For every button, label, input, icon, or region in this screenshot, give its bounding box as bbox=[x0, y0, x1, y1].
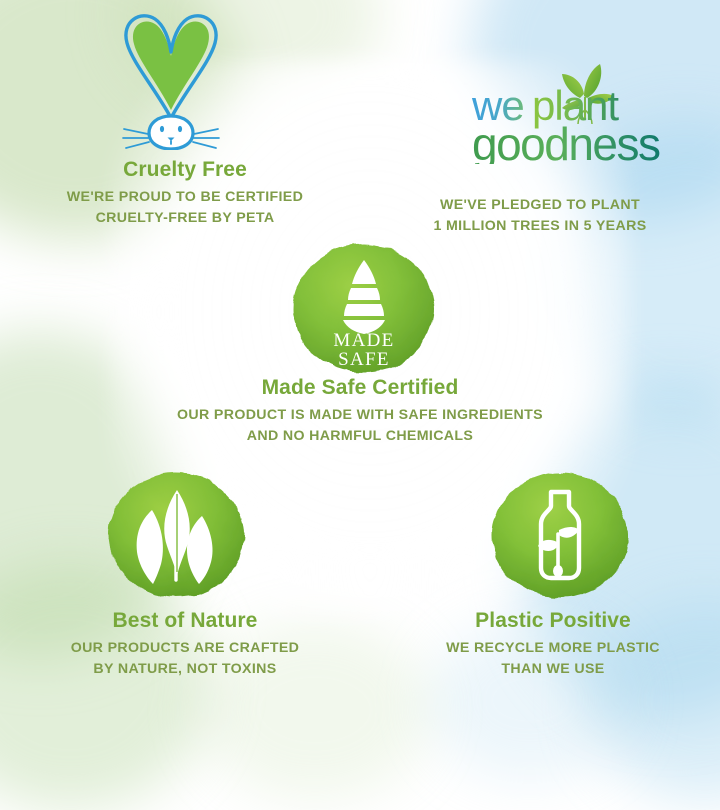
made-safe-text-block: Made Safe Certified OUR PRODUCT IS MADE … bbox=[110, 375, 610, 446]
made-safe-body: OUR PRODUCT IS MADE WITH SAFE INGREDIENT… bbox=[110, 405, 610, 446]
svg-text:goodness: goodness bbox=[472, 118, 660, 164]
made-safe-word-safe: SAFE bbox=[338, 349, 390, 370]
we-plant-goodness-body-line-2: 1 MILLION TREES IN 5 YEARS bbox=[375, 216, 705, 237]
made-safe-heading: Made Safe Certified bbox=[110, 375, 610, 400]
bottle-sprout-badge-icon bbox=[487, 468, 633, 602]
plastic-positive-body-line-1: WE RECYCLE MORE PLASTIC bbox=[388, 638, 718, 659]
cruelty-free-heading: Cruelty Free bbox=[20, 157, 350, 182]
cruelty-free-text-block: Cruelty Free WE'RE PROUD TO BE CERTIFIED… bbox=[20, 157, 350, 228]
cruelty-free-body-line-1: WE'RE PROUD TO BE CERTIFIED bbox=[20, 187, 350, 208]
we-plant-goodness-logo: we plant goodness bbox=[470, 62, 680, 164]
we-plant-goodness-text-block: WE'VE PLEDGED TO PLANT 1 MILLION TREES I… bbox=[375, 195, 705, 236]
three-leaves-badge-icon bbox=[103, 468, 249, 602]
cruelty-free-body: WE'RE PROUD TO BE CERTIFIED CRUELTY-FREE… bbox=[20, 187, 350, 228]
plastic-positive-body: WE RECYCLE MORE PLASTIC THAN WE USE bbox=[388, 638, 718, 679]
we-plant-goodness-body: WE'VE PLEDGED TO PLANT 1 MILLION TREES I… bbox=[375, 195, 705, 236]
best-of-nature-body: OUR PRODUCTS ARE CRAFTED BY NATURE, NOT … bbox=[20, 638, 350, 679]
made-safe-body-line-2: AND NO HARMFUL CHEMICALS bbox=[110, 426, 610, 447]
plastic-positive-body-line-2: THAN WE USE bbox=[388, 659, 718, 680]
certifications-stage: Cruelty Free WE'RE PROUD TO BE CERTIFIED… bbox=[0, 0, 720, 720]
peta-bunny-icon bbox=[108, 14, 234, 150]
made-safe-body-line-1: OUR PRODUCT IS MADE WITH SAFE INGREDIENT… bbox=[110, 405, 610, 426]
plastic-positive-text-block: Plastic Positive WE RECYCLE MORE PLASTIC… bbox=[388, 608, 718, 679]
made-safe-badge-icon: MADE SAFE bbox=[288, 238, 440, 378]
best-of-nature-heading: Best of Nature bbox=[20, 608, 350, 633]
best-of-nature-text-block: Best of Nature OUR PRODUCTS ARE CRAFTED … bbox=[20, 608, 350, 679]
cruelty-free-body-line-2: CRUELTY-FREE BY PETA bbox=[20, 208, 350, 229]
we-plant-goodness-body-line-1: WE'VE PLEDGED TO PLANT bbox=[375, 195, 705, 216]
made-safe-word-made: MADE bbox=[333, 330, 394, 351]
best-of-nature-body-line-1: OUR PRODUCTS ARE CRAFTED bbox=[20, 638, 350, 659]
best-of-nature-body-line-2: BY NATURE, NOT TOXINS bbox=[20, 659, 350, 680]
plastic-positive-heading: Plastic Positive bbox=[388, 608, 718, 633]
